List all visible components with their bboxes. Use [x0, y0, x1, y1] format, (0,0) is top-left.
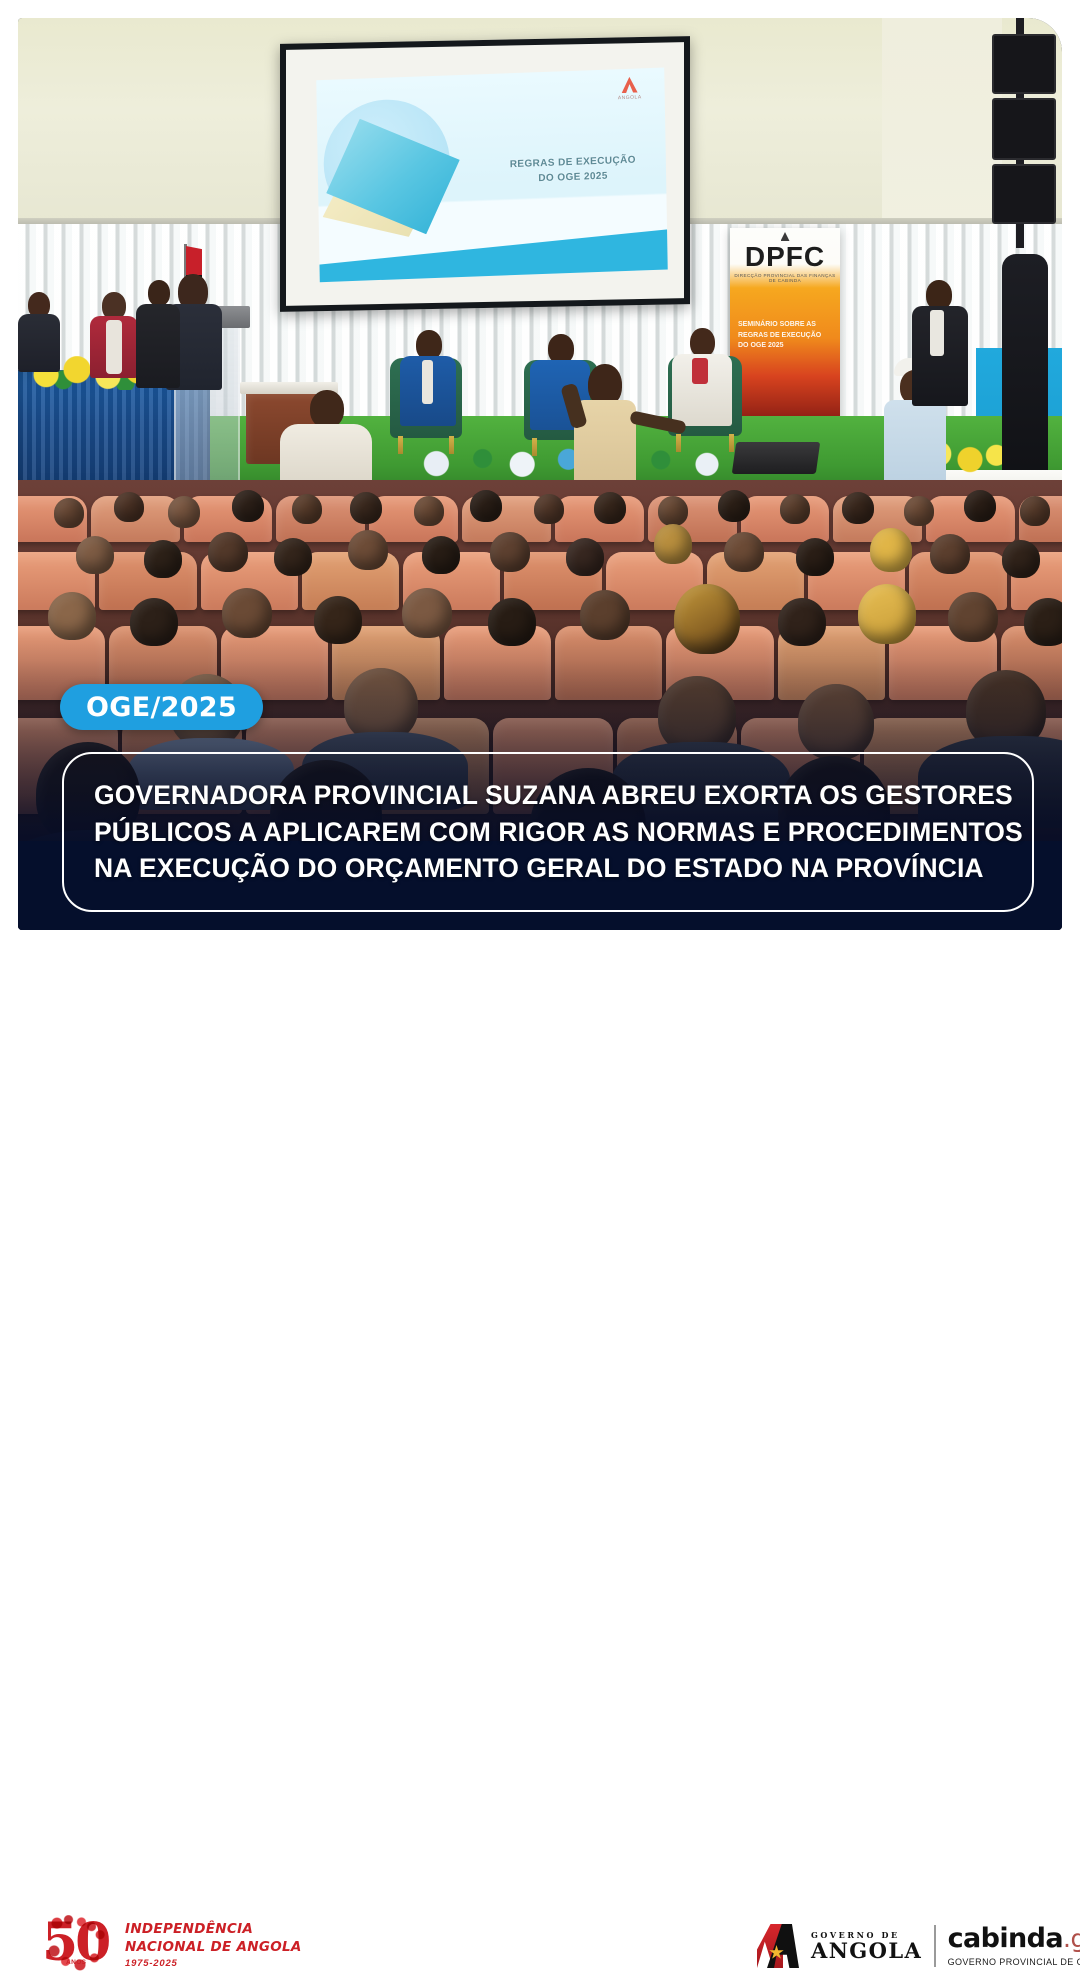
- angola-government-emblem-icon: [757, 1924, 799, 1968]
- banner-subtitle: DIRECÇÃO PROVINCIAL DAS FINANÇAS DE CABI…: [730, 273, 840, 283]
- banner-body-text: SEMINÁRIO SOBRE AS REGRAS DE EXECUÇÃO DO…: [738, 320, 832, 352]
- oge-badge[interactable]: OGE/2025: [60, 684, 263, 730]
- presentation-slide: ANGOLA REGRAS DE EXECUÇÃO DO OGE 2025: [316, 68, 667, 283]
- slide-logo-label: ANGOLA: [613, 94, 647, 101]
- government-wordmark-name: ANGOLA: [811, 1940, 922, 1961]
- caption-line-1: GOVERNADORA PROVINCIAL SUZANA ABREU EXOR…: [94, 777, 1002, 814]
- banner-header: DPFC DIRECÇÃO PROVINCIAL DAS FINANÇAS DE…: [730, 232, 840, 283]
- caption-line-2: PÚBLICOS A APLICAREM COM RIGOR AS NORMAS…: [94, 814, 1002, 851]
- floor-monitor: [732, 442, 820, 474]
- projection-screen: ANGOLA REGRAS DE EXECUÇÃO DO OGE 2025: [280, 36, 690, 312]
- poster-root: ANGOLA REGRAS DE EXECUÇÃO DO OGE 2025 DP…: [0, 0, 1080, 1080]
- slide-logo: ANGOLA: [612, 76, 646, 101]
- cabinda-domain-row: cabinda .gov.ao: [948, 1924, 1080, 1954]
- caption-box: GOVERNADORA PROVINCIAL SUZANA ABREU EXOR…: [62, 752, 1034, 912]
- cabinda-subtitle: GOVERNO PROVINCIAL DE CABINDA: [948, 1958, 1080, 1968]
- line-array-speaker: [992, 34, 1056, 94]
- cabinda-wordmark: cabinda .gov.ao GOVERNO PROVINCIAL DE CA…: [948, 1924, 1080, 1968]
- caption-line-3: NA EXECUÇÃO DO ORÇAMENTO GERAL DO ESTADO…: [94, 850, 1002, 887]
- caption-line-1-pre: GOVERNADORA PROVINCIAL: [94, 780, 485, 810]
- cabinda-domain: .gov.ao: [1063, 1925, 1080, 1953]
- banner-triangle-icon: [781, 232, 790, 241]
- caption-inner: GOVERNADORA PROVINCIAL SUZANA ABREU EXOR…: [64, 777, 1032, 887]
- slide-title: REGRAS DE EXECUÇÃO DO OGE 2025: [498, 152, 649, 187]
- banner-title: DPFC: [730, 243, 840, 271]
- line-array-speaker: [992, 164, 1056, 224]
- independence-line-3: 1975-2025: [125, 1958, 302, 1971]
- dpfc-rollup-banner: DPFC DIRECÇÃO PROVINCIAL DAS FINANÇAS DE…: [730, 228, 840, 428]
- independence-line-1: INDEPENDÊNCIA: [125, 1921, 302, 1939]
- cabinda-name: cabinda: [948, 1924, 1063, 1954]
- government-logos: GOVERNO DE ANGOLA cabinda .gov.ao GOVERN…: [757, 1924, 1080, 1968]
- line-array-speaker: [992, 98, 1056, 160]
- independence-50-text: INDEPENDÊNCIA NACIONAL DE ANGOLA 1975-20…: [125, 1921, 302, 1970]
- footer-bar: 50 ANOS INDEPENDÊNCIA NACIONAL DE ANGOLA…: [0, 930, 1080, 1080]
- oge-badge-label: OGE/2025: [86, 692, 237, 723]
- caption-line-1-post: EXORTA OS GESTORES: [696, 780, 1013, 810]
- government-wordmark-top: GOVERNO DE: [811, 1931, 922, 1939]
- independence-50-anos-label: ANOS: [66, 1959, 86, 1966]
- government-wordmark: GOVERNO DE ANGOLA: [811, 1931, 922, 1961]
- caption-highlight-name: SUZANA ABREU: [485, 780, 696, 810]
- independence-50-logo: 50 ANOS INDEPENDÊNCIA NACIONAL DE ANGOLA…: [42, 1915, 302, 1977]
- independence-50-mark: 50 ANOS: [42, 1915, 116, 1977]
- logo-divider: [934, 1925, 935, 1967]
- angola-mark-icon: [621, 77, 637, 94]
- independence-line-2: NACIONAL DE ANGOLA: [125, 1939, 302, 1957]
